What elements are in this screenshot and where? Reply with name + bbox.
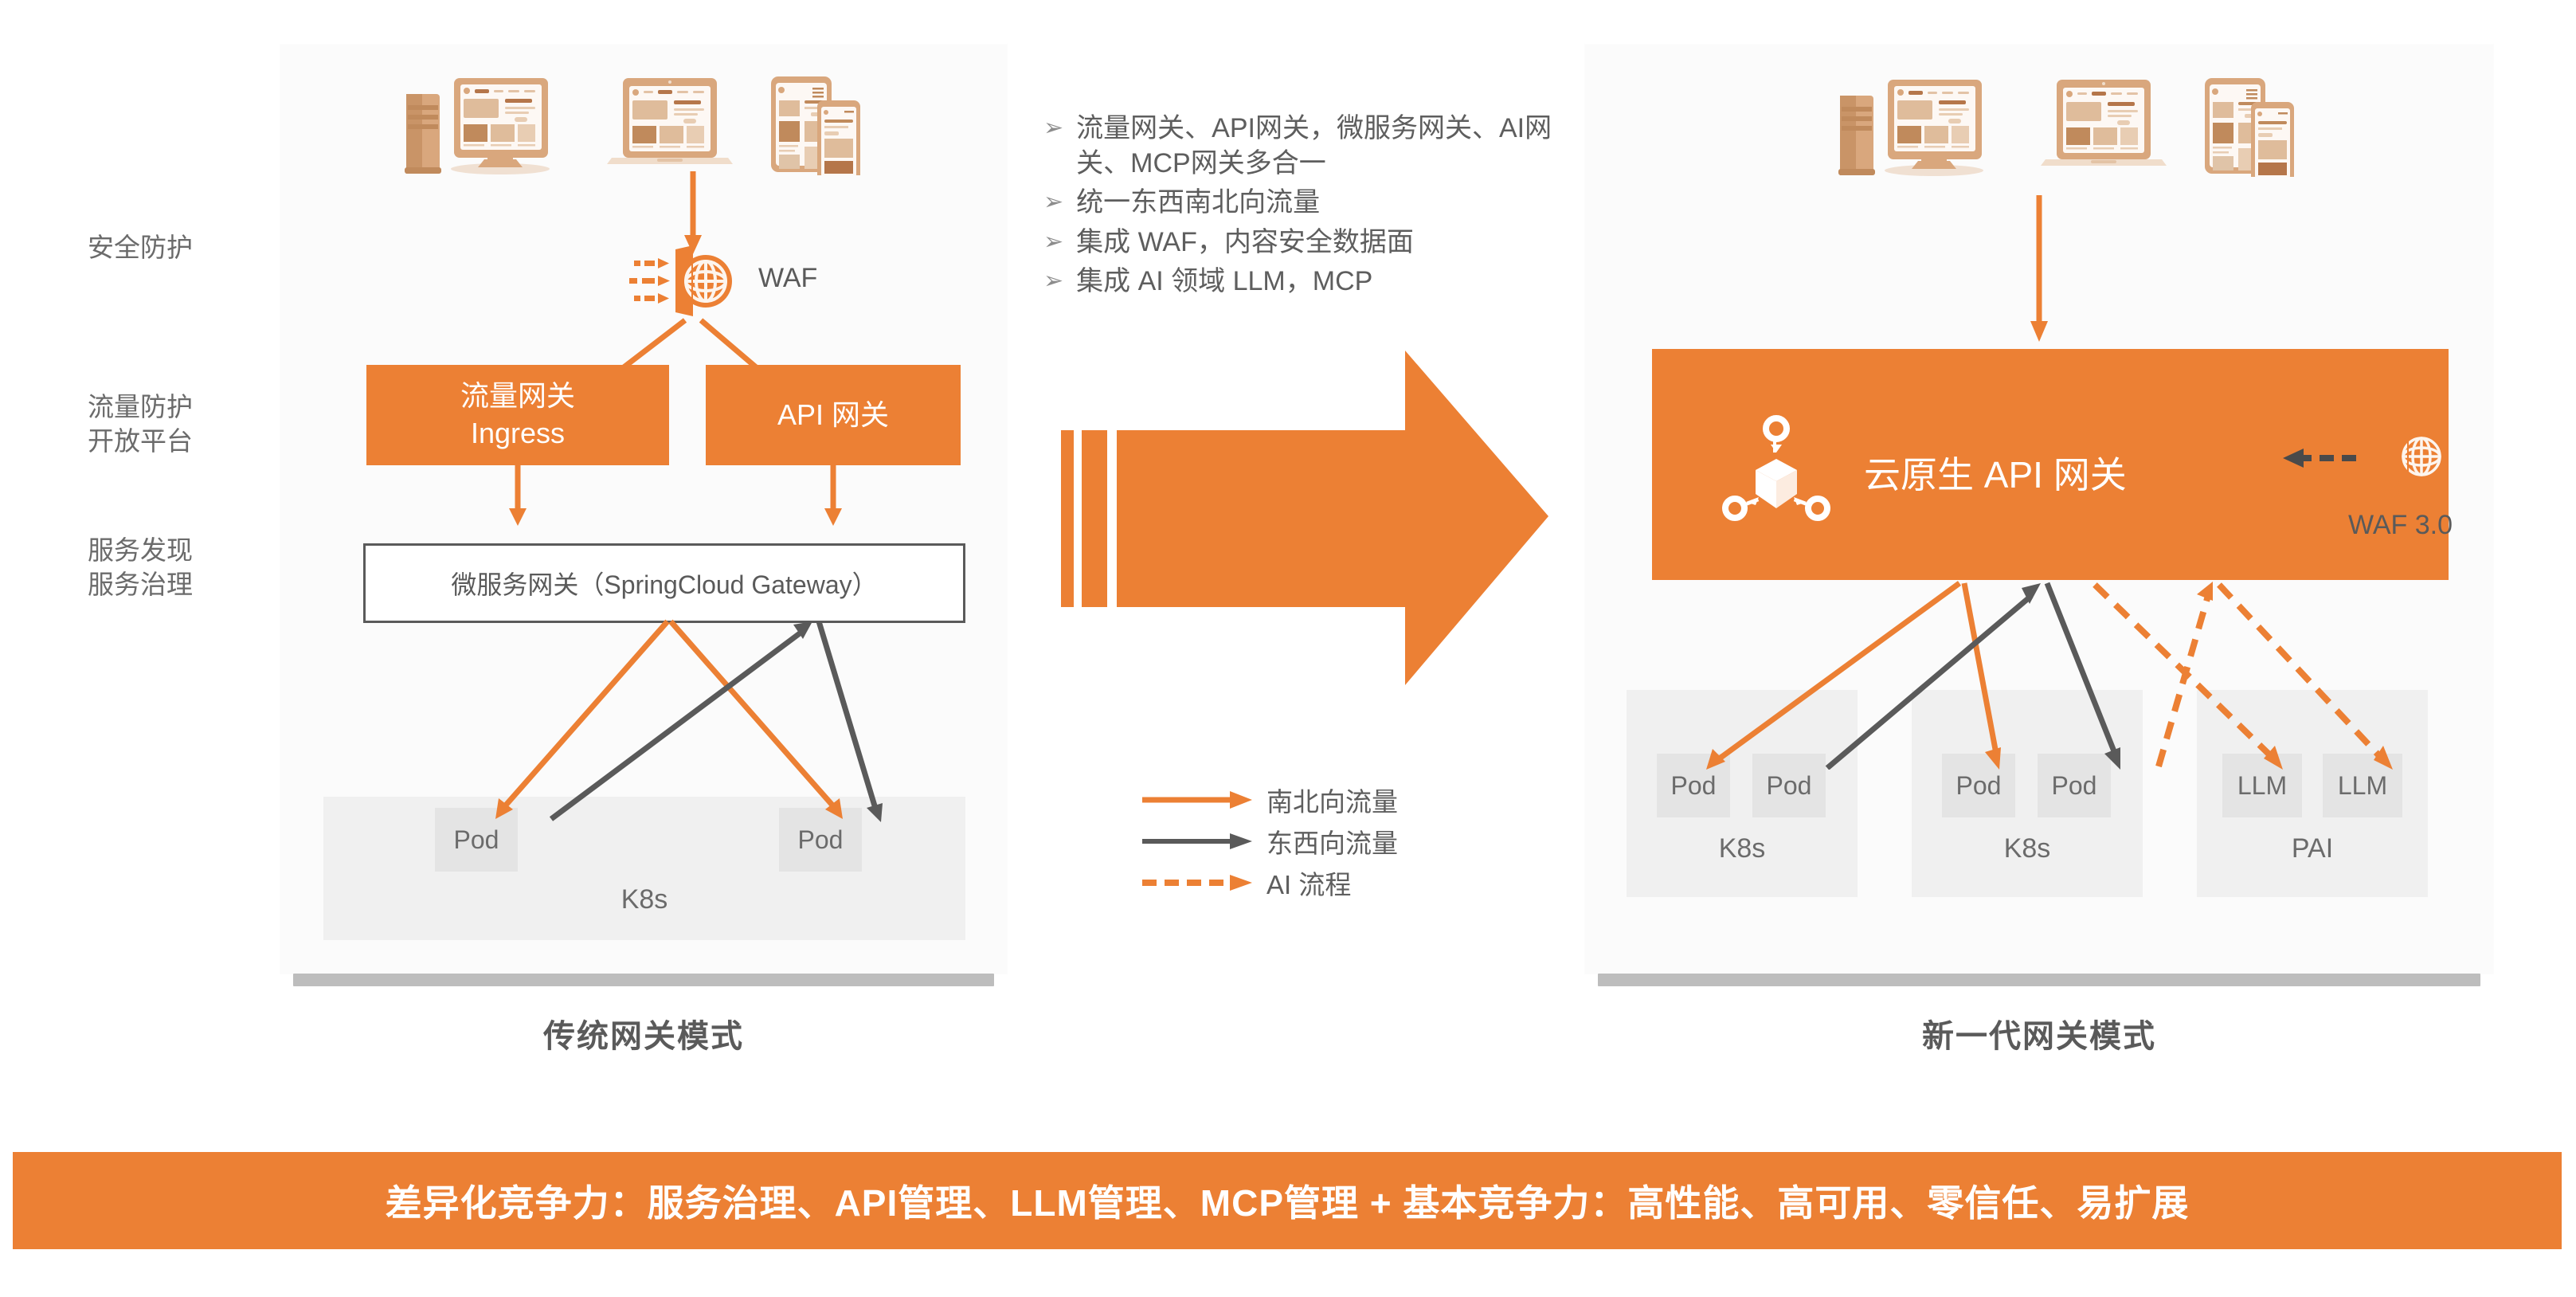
bullet-item: ➢ 集成 WAF，内容安全数据面 [1043,225,1569,261]
right-cluster-3-node-2-label: LLM [2338,771,2387,801]
right-cluster-1-node-2-label: Pod [1767,771,1812,801]
server-tower-icon [405,94,441,174]
bullet-text: 集成 AI 领域 LLM，MCP [1076,264,1372,300]
stage-label-security: 安全防护 [88,231,271,265]
left-k8s-label: K8s [323,884,965,915]
chevron-bullet-icon: ➢ [1043,225,1063,257]
api-gateway-label: API 网关 [777,397,889,434]
bullet-item: ➢ 统一东西南北向流量 [1043,186,1569,221]
right-panel-base-shadow [1598,974,2480,986]
left-traffic-arrows [319,613,972,822]
laptop-icon [2041,80,2167,166]
right-cluster-3-node-1-label: LLM [2237,771,2287,801]
stage-label-traffic-platform: 流量防护 开放平台 [88,390,271,459]
left-device-icons [382,48,876,175]
server-tower-icon [1838,96,1875,175]
right-cluster-2-node-2-label: Pod [2052,771,2097,801]
chevron-bullet-icon: ➢ [1043,186,1063,217]
right-cluster-1-node-1-label: Pod [1671,771,1717,801]
legend-label-ai-flow: AI 流程 [1266,864,1351,902]
legend-item-ai-flow: AI 流程 [1142,862,1398,903]
feature-bullet-list: ➢ 流量网关、API网关，微服务网关、AI网关、MCP网关多合一 ➢ 统一东西南… [1043,112,1569,304]
tablet-phone-icon [771,76,860,175]
bullet-item: ➢ 集成 AI 领域 LLM，MCP [1043,264,1569,300]
traffic-gateway-line1: 流量网关 [460,378,575,415]
traffic-gateway-box: 流量网关 Ingress [366,365,669,465]
arrows-gateways-to-micro [350,465,972,532]
legend-item-north-south: 南北向流量 [1142,779,1398,821]
tablet-phone-icon [2205,78,2294,177]
arrow-devices-to-cloud-gateway [2015,195,2063,347]
waf-shield-globe-icon [629,243,757,323]
solid-gray-arrow-icon [1142,833,1254,850]
right-device-icons [1816,49,2310,177]
bullet-text: 流量网关、API网关，微服务网关、AI网关、MCP网关多合一 [1076,112,1554,181]
left-panel-title: 传统网关模式 [280,1010,1007,1056]
flow-legend: 南北向流量 东西向流量 AI 流程 [1142,779,1398,903]
right-cluster-2-label: K8s [1912,833,2143,864]
micro-gateway-label: 微服务网关（SpringCloud Gateway） [451,565,877,601]
right-panel-title: 新一代网关模式 [1585,1010,2493,1056]
left-pod-2-label: Pod [798,825,844,855]
legend-item-east-west: 东西向流量 [1142,821,1398,862]
bullet-item: ➢ 流量网关、API网关，微服务网关、AI网关、MCP网关多合一 [1043,112,1569,181]
bullet-text: 集成 WAF，内容安全数据面 [1076,225,1414,261]
waf-label: WAF [758,263,817,294]
cloud-native-gateway-label: 云原生 API 网关 [1864,446,2127,499]
right-traffic-arrows [1617,578,2421,770]
big-transition-arrow [1061,351,1564,685]
waf-30-label: WAF 3.0 [2348,510,2453,541]
legend-label-north-south: 南北向流量 [1266,781,1398,819]
solid-orange-arrow-icon [1142,791,1254,809]
traffic-gateway-line2: Ingress [460,415,575,453]
stage-label-service-discovery: 服务发现 服务治理 [88,534,271,602]
value-proposition-text: 差异化竞争力：服务治理、API管理、LLM管理、MCP管理 + 基本竞争力：高性… [386,1174,2190,1227]
left-pod-1-label: Pod [454,825,499,855]
legend-label-east-west: 东西向流量 [1266,822,1398,860]
left-panel-base-shadow [293,974,994,986]
desktop-monitor-icon [1885,80,1983,176]
waf-30-shield-globe-icon [2351,414,2455,502]
arrow-waf30-to-gateway [2280,445,2359,472]
micro-gateway-box: 微服务网关（SpringCloud Gateway） [363,543,965,623]
api-gateway-box: API 网关 [706,365,961,465]
laptop-icon [607,78,733,164]
chevron-bullet-icon: ➢ [1043,112,1063,143]
dashed-orange-arrow-icon [1142,874,1254,891]
right-cluster-2-node-1-label: Pod [1956,771,2002,801]
chevron-bullet-icon: ➢ [1043,264,1063,296]
value-proposition-banner: 差异化竞争力：服务治理、API管理、LLM管理、MCP管理 + 基本竞争力：高性… [13,1152,2562,1249]
bullet-text: 统一东西南北向流量 [1076,186,1320,221]
right-cluster-3-label: PAI [2197,833,2428,864]
cloud-native-gateway-icon [1721,414,1832,526]
right-cluster-1-label: K8s [1627,833,1858,864]
desktop-monitor-icon [451,78,550,174]
